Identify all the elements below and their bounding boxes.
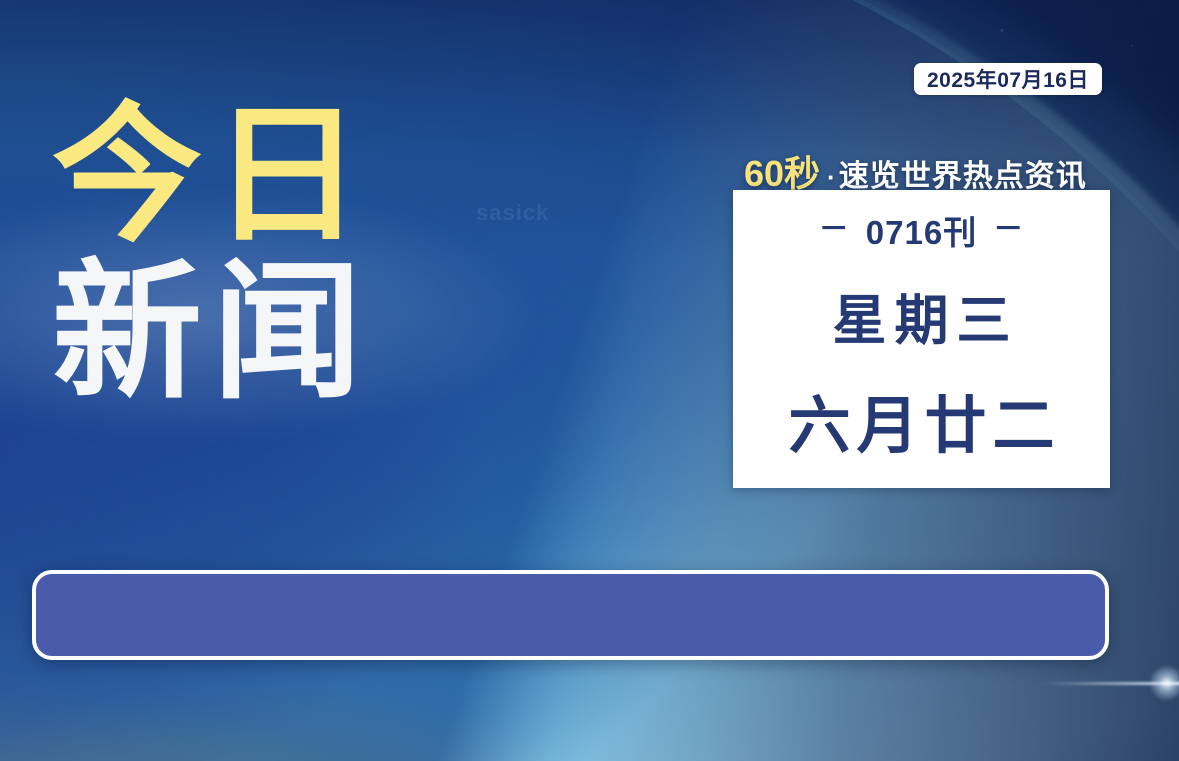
bottom-content-bar (32, 570, 1109, 660)
date-card: － 0716刊 － 星期三 六月廿二 (733, 190, 1110, 488)
tagline-separator: · (827, 162, 836, 193)
brand-title: 今日 新闻 (52, 102, 372, 406)
issue-dash-left: － (819, 215, 850, 245)
issue-row: － 0716刊 － (819, 206, 1024, 254)
lunar-date-label: 六月廿二 (782, 375, 1060, 465)
poster-canvas: sasick 今日 新闻 2025年07月16日 60秒 · 速览世界热点资讯 … (0, 0, 1179, 761)
brand-title-line-1: 今日 (52, 102, 372, 249)
brand-title-line-2: 新闻 (52, 259, 372, 406)
issue-dash-right: － (993, 215, 1024, 245)
weekday-label: 星期三 (825, 276, 1019, 355)
issue-number: 0716刊 (866, 206, 977, 254)
tagline-text: 速览世界热点资讯 (839, 151, 1087, 195)
date-badge: 2025年07月16日 (914, 63, 1102, 95)
